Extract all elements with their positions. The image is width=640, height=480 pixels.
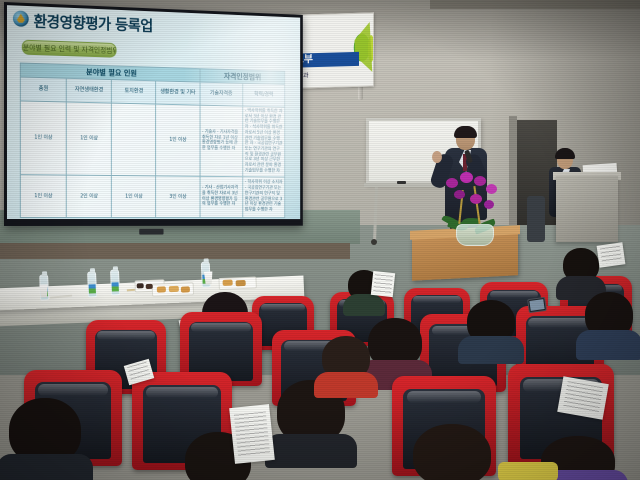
yellow-scarf — [498, 462, 558, 480]
moderator-hair — [555, 148, 575, 159]
projection-screen: 환경영향평가 등록업 분야별 필요 인력 및 자격인정범위 분야별 필요 인원 … — [7, 5, 300, 219]
glass-vase — [456, 224, 494, 246]
slide-subtitle-bar: 분야별 필요 인력 및 자격인정범위 — [22, 40, 117, 58]
subheader-total: 총원 — [20, 77, 66, 102]
slide-table: 분야별 필요 인원 자격인정범위 총원 자연생태환경 토지환경 생활환경 및 기… — [20, 62, 285, 217]
banner-chevron-icon — [310, 22, 373, 77]
snack-item — [137, 283, 144, 288]
audience-member — [0, 398, 90, 480]
water-bottle — [110, 269, 120, 295]
orchid-arrangement — [440, 160, 508, 246]
orchid-bloom — [474, 176, 486, 186]
orchid-bloom — [446, 178, 458, 188]
cell-land: 1인 이상 — [112, 175, 156, 217]
office-chair — [527, 196, 545, 242]
subheader-living: 생활환경 및 기타 — [156, 81, 200, 105]
audience-shoulders — [576, 330, 640, 360]
wall-base-strip — [0, 243, 350, 259]
chopsticks — [50, 295, 72, 299]
audience-member — [404, 424, 500, 480]
snack-item — [146, 284, 153, 289]
cell-qualification: - 기술사 - 기사자격을 취득한 자로 1년 이상 환경영향평가 등에 관한 … — [200, 105, 243, 176]
cell-total: 1인 이상 — [20, 101, 66, 175]
snack-item — [223, 279, 233, 285]
table-row: 1인 이상 2인 이상 1인 이상 3인 이상 - 기사 - 산업기사자격을 취… — [20, 174, 284, 217]
subheader-nature: 자연생태환경 — [66, 78, 111, 103]
handout-booklet — [229, 404, 275, 464]
orchid-bloom — [454, 190, 465, 199]
mobile-phone[interactable] — [527, 297, 547, 313]
subheader-land: 토지환경 — [112, 80, 156, 105]
orchid-bloom — [484, 200, 494, 209]
cell-nature: 2인 이상 — [66, 175, 111, 217]
slide-title: 환경영향평가 등록업 — [34, 10, 153, 35]
handout-booklet — [557, 376, 609, 419]
orchid-bloom — [470, 194, 482, 204]
snack-item — [157, 286, 166, 292]
water-bottle — [87, 271, 97, 297]
ceiling-edge — [430, 0, 640, 9]
subheader-education: 학력/경력 — [243, 83, 285, 107]
audience-shoulders — [0, 454, 93, 480]
snack-item — [236, 280, 246, 286]
whiteboard-marker — [397, 181, 406, 184]
cell-qualification: - 기사 - 산업기사자격을 취득한 자로서 3년 이상 환경영향평가 등의 업… — [200, 176, 243, 217]
audience-member — [460, 300, 522, 362]
cell-total: 1인 이상 — [20, 174, 66, 217]
audience-head — [413, 424, 491, 480]
audience-shoulders — [343, 294, 385, 316]
audience-member — [316, 336, 376, 396]
projection-screen-frame: 환경영향평가 등록업 분야별 필요 인력 및 자격인정범위 분야별 필요 인원 … — [4, 2, 303, 226]
cell-land — [112, 103, 156, 175]
table-row: 1인 이상 1인 이상 1인 이상 - 기술사 - 기사자격을 취득한 자로 1… — [20, 101, 284, 177]
screen-bottom-weight — [139, 229, 163, 235]
subheader-certificate: 기술자격증 — [200, 82, 243, 106]
orchid-bloom — [486, 184, 497, 194]
moderator-desk — [556, 176, 618, 242]
audience-member — [578, 292, 640, 358]
cell-experience: - 박사학위를 취득한 자로서 3년 이상 환경 관련 기술업무를 수행한 자 … — [243, 106, 285, 177]
lecture-hall-photo: 수회 구전학도부 고급 환경공학과 환경영향평가 등록업 분야별 필요 인력 및… — [0, 0, 640, 480]
orchid-bloom — [460, 172, 473, 183]
presenter-hair — [454, 126, 477, 138]
cell-living: 3인 이상 — [156, 176, 200, 218]
cell-experience: - 학사학위 이상 소지자 - 국공립연구기관 또는 연구기관의 연구직 및 환… — [243, 176, 285, 217]
audience-shoulders — [265, 434, 357, 468]
cell-living: 1인 이상 — [156, 104, 200, 176]
cell-nature: 1인 이상 — [66, 102, 111, 175]
snack-item — [181, 286, 190, 292]
handout-booklet — [597, 242, 626, 267]
handout-booklet — [371, 271, 395, 297]
seal-emblem-icon — [13, 10, 29, 27]
audience-shoulders — [314, 372, 378, 398]
door-jamb — [509, 116, 517, 242]
slide-subtitle-text: 분야별 필요 인력 및 자격인정범위 — [23, 41, 116, 59]
audience-shoulders — [458, 336, 524, 364]
snack-item — [169, 286, 179, 292]
whiteboard-caster — [371, 239, 377, 245]
